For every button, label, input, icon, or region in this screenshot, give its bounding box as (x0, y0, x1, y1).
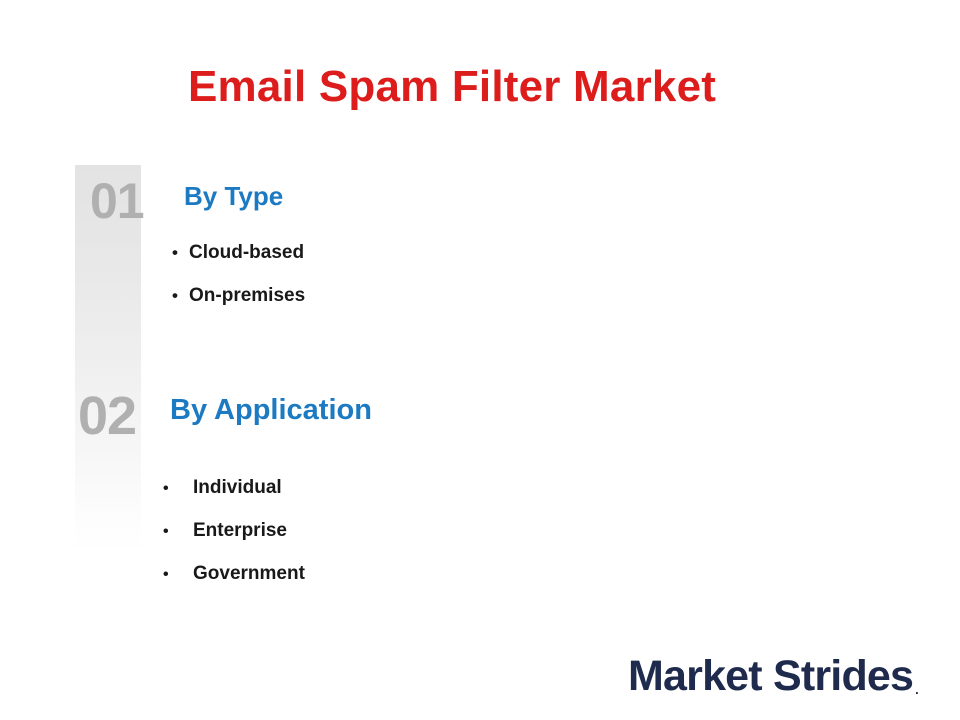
brand-logo: Market Strides . (628, 655, 919, 698)
list-item: • Individual (163, 466, 305, 509)
list-item: • Enterprise (163, 509, 305, 552)
bullet-list-by-application: • Individual • Enterprise • Government (163, 466, 305, 595)
bullet-dot-icon: • (172, 231, 189, 274)
section-heading-by-type: By Type (184, 183, 283, 209)
list-item-label: Individual (193, 466, 282, 509)
section-heading-by-application: By Application (170, 396, 372, 425)
slide-canvas: Email Spam Filter Market 01 By Type • Cl… (0, 0, 960, 720)
bullet-list-by-type: • Cloud-based • On-premises (172, 231, 305, 317)
bullet-dot-icon: • (163, 467, 193, 510)
bullet-dot-icon: • (163, 510, 193, 553)
list-item-label: Government (193, 552, 305, 595)
list-item-label: Cloud-based (189, 231, 304, 274)
bullet-dot-icon: • (163, 553, 193, 596)
section-number-01: 01 (90, 176, 144, 226)
list-item: • Cloud-based (172, 231, 305, 274)
brand-logo-text: Market Strides (628, 655, 913, 698)
section-number-02: 02 (78, 389, 136, 443)
bullet-dot-icon: • (172, 274, 189, 317)
brand-logo-mark: . (913, 683, 919, 698)
page-title: Email Spam Filter Market (188, 62, 716, 111)
list-item-label: On-premises (189, 274, 305, 317)
list-item: • Government (163, 552, 305, 595)
list-item: • On-premises (172, 274, 305, 317)
list-item-label: Enterprise (193, 509, 287, 552)
